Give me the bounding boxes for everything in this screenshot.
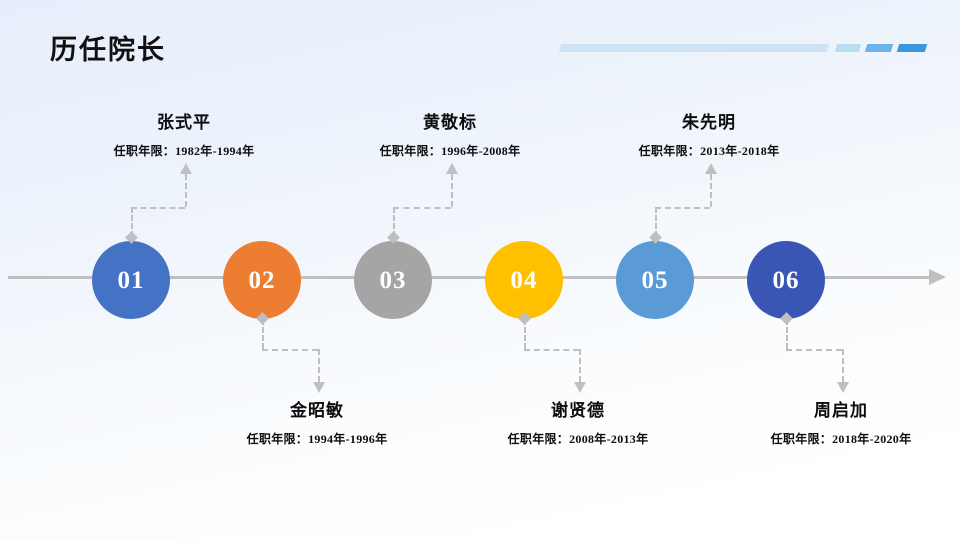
connector-segment-vertical-near (393, 207, 395, 237)
timeline-node-05[interactable]: 05 (616, 241, 694, 319)
connector-segment-vertical-near (655, 207, 657, 237)
timeline-node-number: 03 (380, 268, 407, 293)
timeline-label-06: 周启加任职年限：2018年-2020年 (691, 396, 960, 447)
timeline-label-04: 谢贤德任职年限：2008年-2013年 (428, 396, 728, 447)
person-name: 金昭敏 (167, 396, 467, 421)
page-title: 历任院长 (50, 28, 166, 67)
person-term: 任职年限：2008年-2013年 (428, 430, 728, 447)
timeline-node-02[interactable]: 02 (223, 241, 301, 319)
person-name: 周启加 (691, 396, 960, 421)
person-term: 任职年限：1994年-1996年 (167, 430, 467, 447)
connector-segment-vertical-far (451, 174, 453, 207)
deco-bar-short-3 (897, 44, 928, 52)
person-name: 黄敬标 (300, 108, 600, 133)
connector-segment-vertical-far (579, 349, 581, 382)
timeline-node-06[interactable]: 06 (747, 241, 825, 319)
timeline-axis-arrow-icon (929, 269, 946, 285)
connector-segment-horizontal (786, 349, 842, 351)
connector-segment-horizontal (393, 207, 451, 209)
connector-arrow-down-icon (574, 382, 586, 393)
person-name: 谢贤德 (428, 396, 728, 421)
connector-segment-horizontal (655, 207, 710, 209)
timeline-node-number: 01 (118, 268, 145, 293)
decorative-bars (536, 44, 926, 54)
timeline-label-03: 黄敬标任职年限：1996年-2008年 (300, 108, 600, 159)
connector-arrow-down-icon (837, 382, 849, 393)
timeline-node-01[interactable]: 01 (92, 241, 170, 319)
person-term: 任职年限：2018年-2020年 (691, 430, 960, 447)
connector-segment-vertical-near (262, 319, 264, 349)
person-name: 朱先明 (559, 108, 859, 133)
person-term: 任职年限：2013年-2018年 (559, 142, 859, 159)
timeline-label-05: 朱先明任职年限：2013年-2018年 (559, 108, 859, 159)
connector-segment-vertical-near (524, 319, 526, 349)
connector-segment-vertical-far (185, 174, 187, 207)
timeline-node-number: 02 (249, 268, 276, 293)
timeline-node-number: 06 (773, 268, 800, 293)
connector-segment-vertical-far (842, 349, 844, 382)
connector-segment-horizontal (524, 349, 579, 351)
timeline-label-01: 张式平任职年限：1982年-1994年 (34, 108, 334, 159)
deco-bar-short-2 (865, 44, 894, 52)
connector-segment-vertical-near (786, 319, 788, 349)
connector-segment-horizontal (131, 207, 185, 209)
person-term: 任职年限：1982年-1994年 (34, 142, 334, 159)
timeline-node-number: 05 (642, 268, 669, 293)
timeline-node-number: 04 (511, 268, 538, 293)
connector-arrow-down-icon (313, 382, 325, 393)
connector-segment-vertical-far (318, 349, 320, 382)
person-name: 张式平 (34, 108, 334, 133)
deco-bar-short-1 (835, 44, 862, 52)
timeline-node-04[interactable]: 04 (485, 241, 563, 319)
connector-arrow-up-icon (446, 163, 458, 174)
deco-bar-long (559, 44, 830, 52)
slide-canvas: 历任院长 01张式平任职年限：1982年-1994年02金昭敏任职年限：1994… (0, 0, 960, 540)
connector-segment-vertical-near (131, 207, 133, 237)
person-term: 任职年限：1996年-2008年 (300, 142, 600, 159)
connector-segment-horizontal (262, 349, 318, 351)
connector-arrow-up-icon (705, 163, 717, 174)
connector-arrow-up-icon (180, 163, 192, 174)
connector-segment-vertical-far (710, 174, 712, 207)
timeline-node-03[interactable]: 03 (354, 241, 432, 319)
timeline-label-02: 金昭敏任职年限：1994年-1996年 (167, 396, 467, 447)
